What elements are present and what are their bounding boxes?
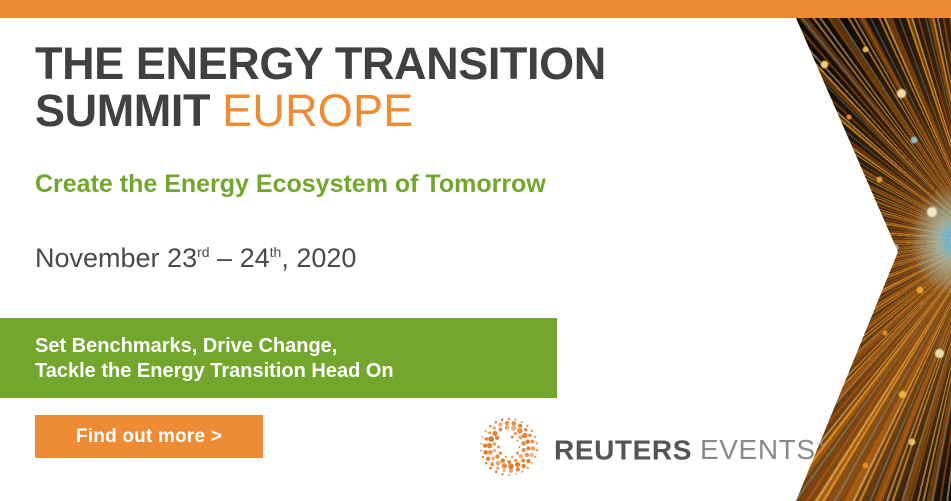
tagline-banner: Set Benchmarks, Drive Change, Tackle the… <box>0 318 557 398</box>
date-day-start-ordinal: rd <box>197 244 209 260</box>
date-day-start: 23 <box>167 243 197 273</box>
reuters-events-logo[interactable]: REUTERSEVENTS™ <box>478 416 773 478</box>
find-out-more-button[interactable]: Find out more > <box>35 415 263 458</box>
content-column: THE ENERGY TRANSITION SUMMIT EUROPE Crea… <box>0 18 760 501</box>
page-title: THE ENERGY TRANSITION SUMMIT EUROPE <box>35 40 606 134</box>
logo-word-reuters: REUTERS <box>554 434 692 465</box>
tagline-line-1: Set Benchmarks, Drive Change, <box>35 334 337 358</box>
banner-ad: THE ENERGY TRANSITION SUMMIT EUROPE Crea… <box>0 0 951 501</box>
spark-particles-overlay <box>758 18 951 501</box>
date-day-end: 24 <box>240 243 270 273</box>
date-day-end-ordinal: th <box>270 244 282 260</box>
headline-europe: EUROPE <box>222 85 413 136</box>
date-separator: – <box>210 243 240 273</box>
date-year: , 2020 <box>281 243 356 273</box>
headline-line-2: SUMMIT EUROPE <box>35 87 606 134</box>
headline-line-1: THE ENERGY TRANSITION <box>35 38 606 89</box>
hero-image <box>758 18 951 501</box>
tagline-line-2: Tackle the Energy Transition Head On <box>35 359 394 383</box>
logo-word-events: EVENTS <box>700 434 816 465</box>
trademark-symbol: ™ <box>817 441 827 451</box>
date-month: November <box>35 243 167 273</box>
top-accent-bar <box>0 0 951 18</box>
headline-summit: SUMMIT <box>35 85 210 136</box>
logo-wordmark: REUTERSEVENTS™ <box>554 431 826 465</box>
event-dates: November 23rd – 24th, 2020 <box>35 242 356 274</box>
reuters-dot-spiral-icon <box>478 416 540 478</box>
subtitle: Create the Energy Ecosystem of Tomorrow <box>35 170 546 199</box>
